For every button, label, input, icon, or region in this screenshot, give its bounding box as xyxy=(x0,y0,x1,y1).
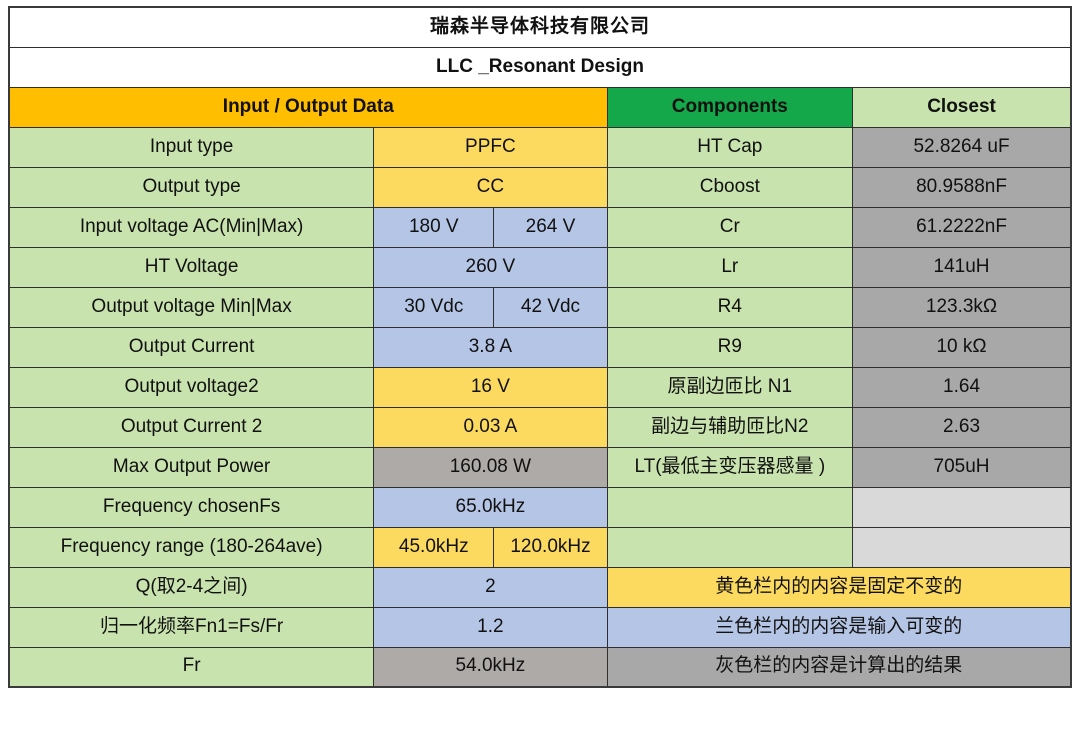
io-value[interactable]: CC xyxy=(374,167,607,207)
header-components: Components xyxy=(607,87,852,127)
component-label: 副边与辅助匝比N2 xyxy=(607,407,852,447)
io-value-max[interactable]: 264 V xyxy=(494,207,607,247)
table-row: Output voltage2 16 V 原副边匝比 N1 1.64 xyxy=(9,367,1071,407)
title-row-subtitle: LLC _Resonant Design xyxy=(9,47,1071,87)
io-label: Output Current 2 xyxy=(9,407,374,447)
component-label: HT Cap xyxy=(607,127,852,167)
io-value: 160.08 W xyxy=(374,447,607,487)
io-label: 归一化频率Fn1=Fs/Fr xyxy=(9,607,374,647)
io-value-min[interactable]: 30 Vdc xyxy=(374,287,494,327)
title-row-company: 瑞森半导体科技有限公司 xyxy=(9,7,1071,47)
component-label: R4 xyxy=(607,287,852,327)
io-label: Input type xyxy=(9,127,374,167)
header-closest: Closest xyxy=(853,87,1071,127)
io-label: HT Voltage xyxy=(9,247,374,287)
closest-value: 61.2222nF xyxy=(853,207,1071,247)
io-value[interactable]: 260 V xyxy=(374,247,607,287)
table-row: Fr 54.0kHz 灰色栏的内容是计算出的结果 xyxy=(9,647,1071,687)
io-value-max[interactable]: 42 Vdc xyxy=(494,287,607,327)
component-label xyxy=(607,527,852,567)
io-value[interactable]: 1.2 xyxy=(374,607,607,647)
io-value[interactable]: 0.03 A xyxy=(374,407,607,447)
io-value[interactable]: 65.0kHz xyxy=(374,487,607,527)
table-row: Output Current 2 0.03 A 副边与辅助匝比N2 2.63 xyxy=(9,407,1071,447)
table-row: Max Output Power 160.08 W LT(最低主变压器感量 ) … xyxy=(9,447,1071,487)
legend-yellow: 黄色栏内的内容是固定不变的 xyxy=(607,567,1071,607)
table-row: 归一化频率Fn1=Fs/Fr 1.2 兰色栏内的内容是输入可变的 xyxy=(9,607,1071,647)
table-body: 瑞森半导体科技有限公司 LLC _Resonant Design Input /… xyxy=(9,7,1071,687)
legend-gray: 灰色栏的内容是计算出的结果 xyxy=(607,647,1071,687)
component-label: Cr xyxy=(607,207,852,247)
io-label: Output Current xyxy=(9,327,374,367)
table-row: Output voltage Min|Max 30 Vdc 42 Vdc R4 … xyxy=(9,287,1071,327)
closest-value: 10 kΩ xyxy=(853,327,1071,367)
table-row: Input type PPFC HT Cap 52.8264 uF xyxy=(9,127,1071,167)
io-value[interactable]: 16 V xyxy=(374,367,607,407)
io-label: Output type xyxy=(9,167,374,207)
closest-value xyxy=(853,487,1071,527)
table-row: Frequency range (180-264ave) 45.0kHz 120… xyxy=(9,527,1071,567)
closest-value xyxy=(853,527,1071,567)
table-row: HT Voltage 260 V Lr 141uH xyxy=(9,247,1071,287)
closest-value: 52.8264 uF xyxy=(853,127,1071,167)
component-label xyxy=(607,487,852,527)
io-label: Input voltage AC(Min|Max) xyxy=(9,207,374,247)
component-label: LT(最低主变压器感量 ) xyxy=(607,447,852,487)
component-label: Lr xyxy=(607,247,852,287)
table-row: Output type CC Cboost 80.9588nF xyxy=(9,167,1071,207)
header-input-output-data: Input / Output Data xyxy=(9,87,607,127)
closest-value: 1.64 xyxy=(853,367,1071,407)
closest-value: 705uH xyxy=(853,447,1071,487)
io-label: Output voltage2 xyxy=(9,367,374,407)
table-row: Output Current 3.8 A R9 10 kΩ xyxy=(9,327,1071,367)
design-subtitle: LLC _Resonant Design xyxy=(9,47,1071,87)
closest-value: 2.63 xyxy=(853,407,1071,447)
io-label: Fr xyxy=(9,647,374,687)
table-row: Q(取2-4之间) 2 黄色栏内的内容是固定不变的 xyxy=(9,567,1071,607)
io-label: Max Output Power xyxy=(9,447,374,487)
closest-value: 141uH xyxy=(853,247,1071,287)
closest-value: 123.3kΩ xyxy=(853,287,1071,327)
component-label: R9 xyxy=(607,327,852,367)
legend-blue: 兰色栏内的内容是输入可变的 xyxy=(607,607,1071,647)
company-title: 瑞森半导体科技有限公司 xyxy=(9,7,1071,47)
io-label: Frequency chosenFs xyxy=(9,487,374,527)
io-value-max[interactable]: 120.0kHz xyxy=(494,527,607,567)
io-value[interactable]: 2 xyxy=(374,567,607,607)
component-label: Cboost xyxy=(607,167,852,207)
table-row: Input voltage AC(Min|Max) 180 V 264 V Cr… xyxy=(9,207,1071,247)
io-value[interactable]: 3.8 A xyxy=(374,327,607,367)
header-row: Input / Output Data Components Closest xyxy=(9,87,1071,127)
io-label: Frequency range (180-264ave) xyxy=(9,527,374,567)
component-label: 原副边匝比 N1 xyxy=(607,367,852,407)
spreadsheet-sheet: 瑞森半导体科技有限公司 LLC _Resonant Design Input /… xyxy=(0,0,1080,749)
io-value-min[interactable]: 180 V xyxy=(374,207,494,247)
io-value: 54.0kHz xyxy=(374,647,607,687)
io-label: Q(取2-4之间) xyxy=(9,567,374,607)
io-value-min[interactable]: 45.0kHz xyxy=(374,527,494,567)
io-label: Output voltage Min|Max xyxy=(9,287,374,327)
closest-value: 80.9588nF xyxy=(853,167,1071,207)
table-row: Frequency chosenFs 65.0kHz xyxy=(9,487,1071,527)
llc-design-table: 瑞森半导体科技有限公司 LLC _Resonant Design Input /… xyxy=(8,6,1072,688)
io-value[interactable]: PPFC xyxy=(374,127,607,167)
